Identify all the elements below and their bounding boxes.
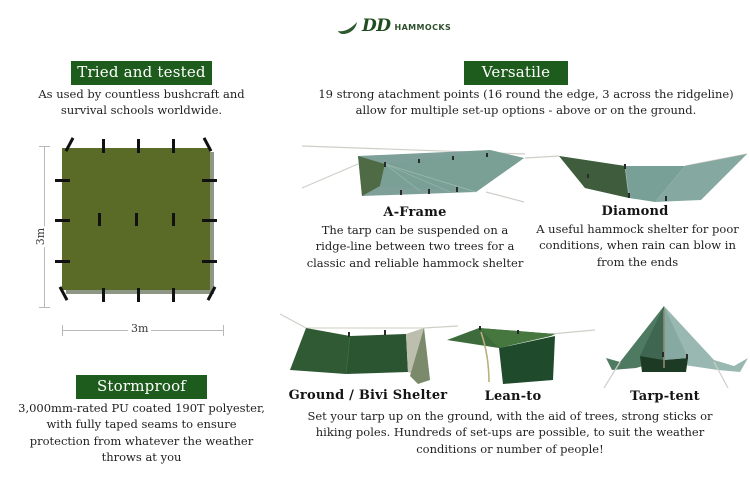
edge-tab-top-4	[172, 139, 175, 153]
dimension-cap-left	[62, 325, 63, 336]
illustration-lean-to	[443, 312, 595, 390]
illustration-tarp-tent	[602, 300, 750, 388]
edge-tab-right-2	[202, 219, 217, 222]
infographic-page: DD HAMMOCKS Tried and tested As used by …	[0, 0, 750, 500]
edge-tab-right-1	[202, 179, 217, 182]
illustration-ground-bivi	[280, 302, 458, 388]
brand-logo: DD HAMMOCKS	[338, 18, 451, 35]
dimension-cap-right	[223, 325, 224, 336]
tarp-dimension-diagram	[30, 143, 245, 338]
dimension-label-height: 3m	[34, 226, 47, 247]
setup-title-diamond: Diamond	[545, 204, 725, 219]
edge-tab-top-2	[102, 139, 105, 153]
text-tried-and-tested: As used by countless bushcraft and survi…	[26, 86, 257, 119]
edge-tab-right-3	[202, 260, 217, 263]
brand-name-secondary: HAMMOCKS	[394, 24, 451, 32]
brand-name-primary: DD	[362, 18, 390, 35]
edge-tab-bottom-2	[137, 288, 140, 302]
ridgeline-tab-3	[172, 213, 175, 226]
setup-title-lean-to: Lean-to	[463, 389, 563, 404]
setup-title-a-frame: A-Frame	[320, 205, 510, 220]
dimension-cap-bottom	[39, 307, 50, 308]
edge-tab-bottom-1	[102, 288, 105, 302]
illustration-a-frame	[300, 140, 525, 208]
setup-title-ground-bivi: Ground / Bivi Shelter	[278, 388, 458, 403]
dimension-label-width: 3m	[128, 322, 151, 335]
setup-title-tarp-tent: Tarp-tent	[610, 389, 720, 404]
badge-stormproof: Stormproof	[76, 375, 207, 399]
edge-tab-left-3	[55, 260, 70, 263]
text-versatile: 19 strong atachment points (16 round the…	[316, 86, 736, 119]
edge-tab-bottom-3	[172, 288, 175, 302]
edge-tab-top-3	[137, 139, 140, 153]
ridgeline-tab-1	[98, 213, 101, 226]
setup-description-diamond: A useful hammock shelter for poor condit…	[535, 221, 740, 270]
leaf-icon	[338, 20, 358, 33]
edge-tab-left-2	[55, 219, 70, 222]
dimension-cap-top	[39, 146, 50, 147]
illustration-diamond	[525, 136, 747, 206]
edge-tab-left-1	[55, 179, 70, 182]
text-bottom-note: Set your tarp up on the ground, with the…	[300, 408, 720, 457]
badge-versatile: Versatile	[464, 61, 568, 85]
badge-tried-and-tested: Tried and tested	[71, 61, 212, 85]
ridgeline-tab-2	[135, 213, 138, 226]
text-stormproof: 3,000mm-rated PU coated 190T polyester, …	[18, 400, 265, 465]
setup-description-a-frame: The tarp can be suspended on a ridge-lin…	[305, 222, 525, 271]
